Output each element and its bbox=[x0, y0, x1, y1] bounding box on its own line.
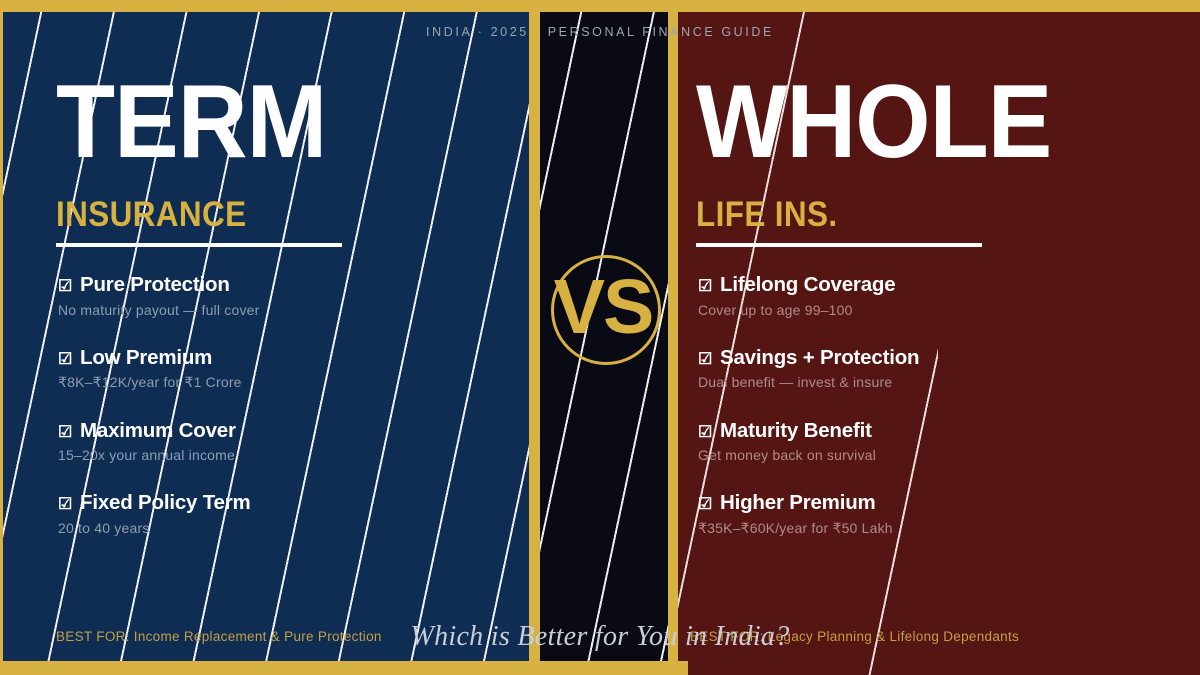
check-box-icon: ☑ bbox=[698, 497, 711, 513]
term-title-rule bbox=[56, 243, 342, 247]
feature-item: ☑Savings + ProtectionDual benefit — inve… bbox=[698, 345, 1156, 392]
feature-item: ☑Lifelong CoverageCover up to age 99–100 bbox=[698, 272, 1156, 319]
feature-item: ☑Pure ProtectionNo maturity payout — ful… bbox=[58, 272, 496, 319]
feature-subtitle: ₹8K–₹12K/year for ₹1 Crore bbox=[58, 373, 496, 391]
check-box-icon: ☑ bbox=[698, 352, 711, 368]
feature-subtitle: ₹35K–₹60K/year for ₹50 Lakh bbox=[698, 519, 1156, 537]
gold-bottom-bar bbox=[0, 661, 688, 675]
gold-top-bar-right bbox=[678, 0, 1200, 12]
feature-title: Maturity Benefit bbox=[720, 418, 872, 444]
feature-subtitle: 15–20x your annual income bbox=[58, 446, 496, 464]
feature-heading: ☑Higher Premium bbox=[698, 490, 1156, 516]
feature-heading: ☑Pure Protection bbox=[58, 272, 496, 298]
feature-item: ☑Low Premium₹8K–₹12K/year for ₹1 Crore bbox=[58, 345, 496, 392]
gold-left-edge-bar bbox=[0, 0, 3, 675]
feature-item: ☑Maximum Cover15–20x your annual income bbox=[58, 418, 496, 465]
feature-heading: ☑Low Premium bbox=[58, 345, 496, 371]
feature-heading: ☑Maturity Benefit bbox=[698, 418, 1156, 444]
feature-title: Savings + Protection bbox=[720, 345, 919, 371]
check-box-icon: ☑ bbox=[58, 425, 71, 441]
gold-divider-left bbox=[529, 0, 540, 675]
feature-subtitle: Get money back on survival bbox=[698, 446, 1156, 464]
whole-life-feature-list: ☑Lifelong CoverageCover up to age 99–100… bbox=[698, 272, 1156, 563]
feature-item: ☑Fixed Policy Term20 to 40 years bbox=[58, 490, 496, 537]
feature-title: Higher Premium bbox=[720, 490, 876, 516]
term-feature-list: ☑Pure ProtectionNo maturity payout — ful… bbox=[58, 272, 496, 563]
feature-heading: ☑Fixed Policy Term bbox=[58, 490, 496, 516]
kicker-text: INDIA · 2025 · PERSONAL FINANCE GUIDE bbox=[0, 25, 1200, 39]
whole-life-subtitle: LIFE INS. bbox=[696, 197, 838, 232]
term-subtitle: INSURANCE bbox=[56, 197, 247, 232]
feature-subtitle: Cover up to age 99–100 bbox=[698, 301, 1156, 319]
feature-title: Lifelong Coverage bbox=[720, 272, 895, 298]
whole-life-column: WHOLE LIFE INS. ☑Lifelong CoverageCover … bbox=[696, 0, 1156, 675]
check-box-icon: ☑ bbox=[698, 279, 711, 295]
term-column: TERM INSURANCE ☑Pure ProtectionNo maturi… bbox=[56, 0, 496, 675]
feature-subtitle: No maturity payout — full cover bbox=[58, 301, 496, 319]
check-box-icon: ☑ bbox=[698, 425, 711, 441]
feature-title: Maximum Cover bbox=[80, 418, 236, 444]
feature-heading: ☑Savings + Protection bbox=[698, 345, 1156, 371]
feature-heading: ☑Lifelong Coverage bbox=[698, 272, 1156, 298]
check-box-icon: ☑ bbox=[58, 352, 71, 368]
term-title: TERM bbox=[56, 75, 326, 171]
whole-life-title-rule bbox=[696, 243, 982, 247]
feature-item: ☑Maturity BenefitGet money back on survi… bbox=[698, 418, 1156, 465]
vs-label: VS bbox=[548, 253, 658, 361]
feature-item: ☑Higher Premium₹35K–₹60K/year for ₹50 La… bbox=[698, 490, 1156, 537]
check-box-icon: ☑ bbox=[58, 279, 71, 295]
feature-heading: ☑Maximum Cover bbox=[58, 418, 496, 444]
whole-life-title: WHOLE bbox=[696, 75, 1051, 171]
check-box-icon: ☑ bbox=[58, 497, 71, 513]
feature-title: Fixed Policy Term bbox=[80, 490, 251, 516]
feature-title: Pure Protection bbox=[80, 272, 230, 298]
gold-top-bar-left bbox=[0, 0, 688, 12]
feature-title: Low Premium bbox=[80, 345, 212, 371]
gold-divider-right bbox=[668, 0, 678, 675]
feature-subtitle: 20 to 40 years bbox=[58, 519, 496, 537]
feature-subtitle: Dual benefit — invest & insure bbox=[698, 373, 1156, 391]
tagline: Which is Better for You in India? bbox=[0, 621, 1200, 653]
comparison-infographic: INDIA · 2025 · PERSONAL FINANCE GUIDE TE… bbox=[0, 0, 1200, 675]
